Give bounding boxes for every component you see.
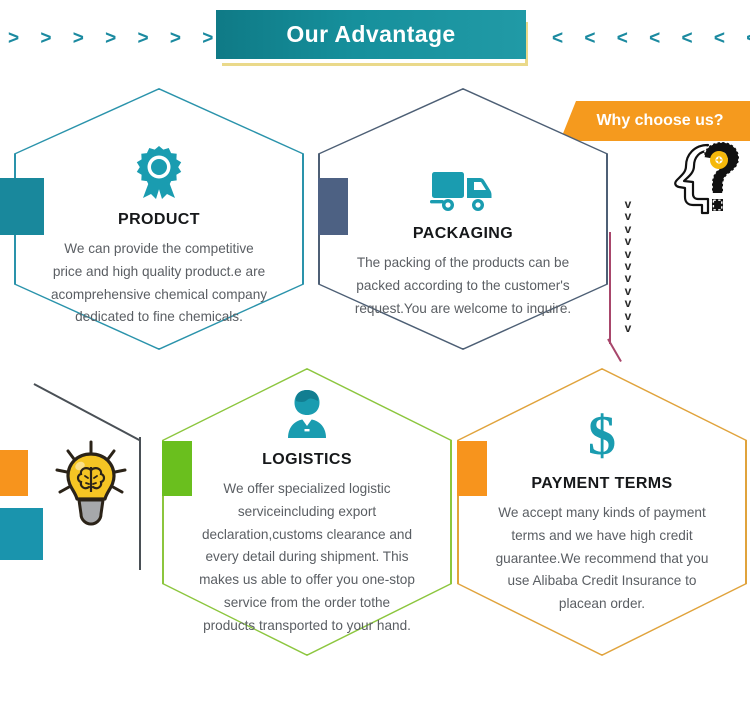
- card-logistics-title: LOGISTICS: [262, 451, 352, 469]
- decor-square-teal-left: [0, 508, 43, 560]
- delivery-truck-icon: [430, 158, 496, 214]
- maroon-accent-line: [609, 232, 611, 344]
- head-question-icon: [668, 139, 742, 219]
- card-packaging-body: The packing of the products can be packe…: [352, 252, 574, 320]
- svg-text:$: $: [588, 408, 616, 464]
- card-payment-title: PAYMENT TERMS: [531, 475, 672, 493]
- card-packaging-tab: [318, 178, 348, 235]
- card-packaging-content: PACKAGING The packing of the products ca…: [318, 88, 608, 350]
- card-payment-body: We accept many kinds of payment terms an…: [491, 502, 713, 616]
- lightbulb-brain-icon: [52, 440, 130, 532]
- person-user-icon: [284, 384, 330, 440]
- card-packaging-title: PACKAGING: [413, 225, 513, 243]
- card-payment-tab: [457, 441, 487, 496]
- dollar-sign-icon: $: [580, 408, 624, 464]
- decor-square-orange-left: [0, 450, 28, 496]
- gray-hex-top-edge: [34, 383, 141, 441]
- page-title-banner: Our Advantage: [216, 10, 526, 59]
- card-logistics-content: LOGISTICS We offer specialized logistic …: [162, 368, 452, 656]
- chevrons-right: < < < < < < < < < < < < <: [552, 28, 750, 50]
- card-logistics-body: We offer specialized logistic serviceinc…: [196, 478, 418, 638]
- card-payment-content: $ PAYMENT TERMS We accept many kinds of …: [457, 368, 747, 656]
- page-title: Our Advantage: [286, 21, 455, 48]
- card-product-body: We can provide the competitive price and…: [48, 238, 270, 329]
- card-product-content: PRODUCT We can provide the competitive p…: [14, 88, 304, 350]
- maroon-accent-diagonal: [607, 339, 622, 363]
- card-product-title: PRODUCT: [118, 211, 200, 229]
- infographic-canvas: > > > > > > > > > > > > > < < < < < < < …: [0, 0, 750, 703]
- award-badge-icon: [132, 144, 186, 200]
- gray-hex-left-edge: [139, 437, 141, 570]
- card-product-tab: [14, 178, 44, 235]
- card-logistics-tab: [162, 441, 192, 496]
- v-chevron-column: vvvvvv vvvvv: [620, 198, 636, 334]
